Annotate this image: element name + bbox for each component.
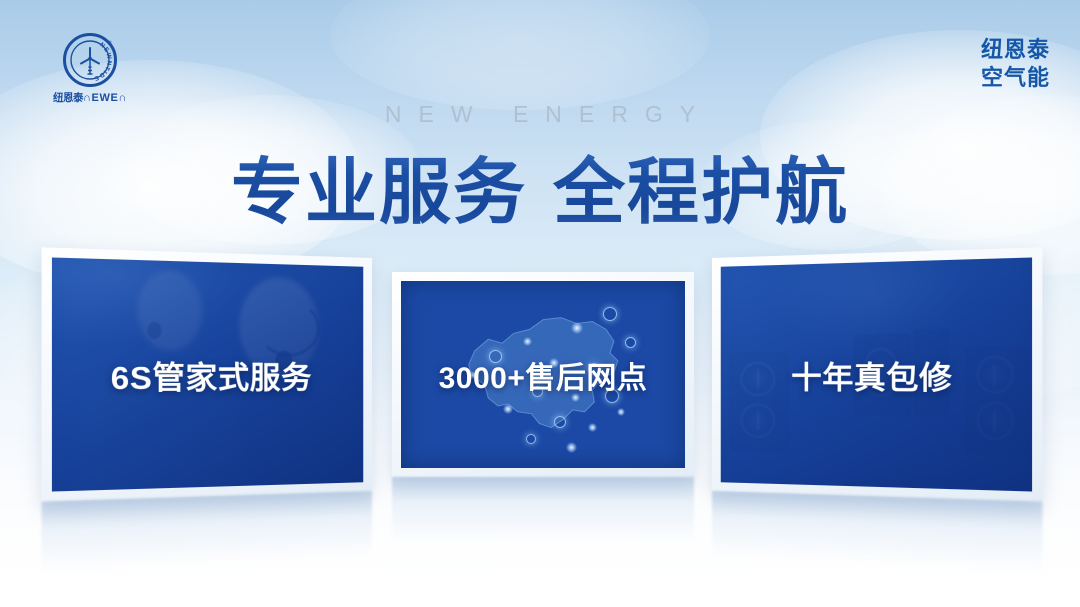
feature-panel-network[interactable]: 3000+售后网点 [392,272,694,477]
map-node [554,416,566,428]
feature-panel-group: 6S管家式服务 [0,0,1080,607]
map-node [617,408,625,416]
panel-label: 3000+售后网点 [392,353,694,397]
feature-panel-warranty[interactable]: 十年真包修 [712,247,1042,501]
panel-label: 6S管家式服务 [42,350,372,398]
panel-reflection [392,477,694,543]
map-node [603,307,617,321]
feature-panel-service[interactable]: 6S管家式服务 [42,247,372,501]
panel-reflection [42,491,372,574]
panel-reflection [712,491,1042,574]
map-node [566,442,577,453]
panel-label: 十年真包修 [712,350,1042,398]
